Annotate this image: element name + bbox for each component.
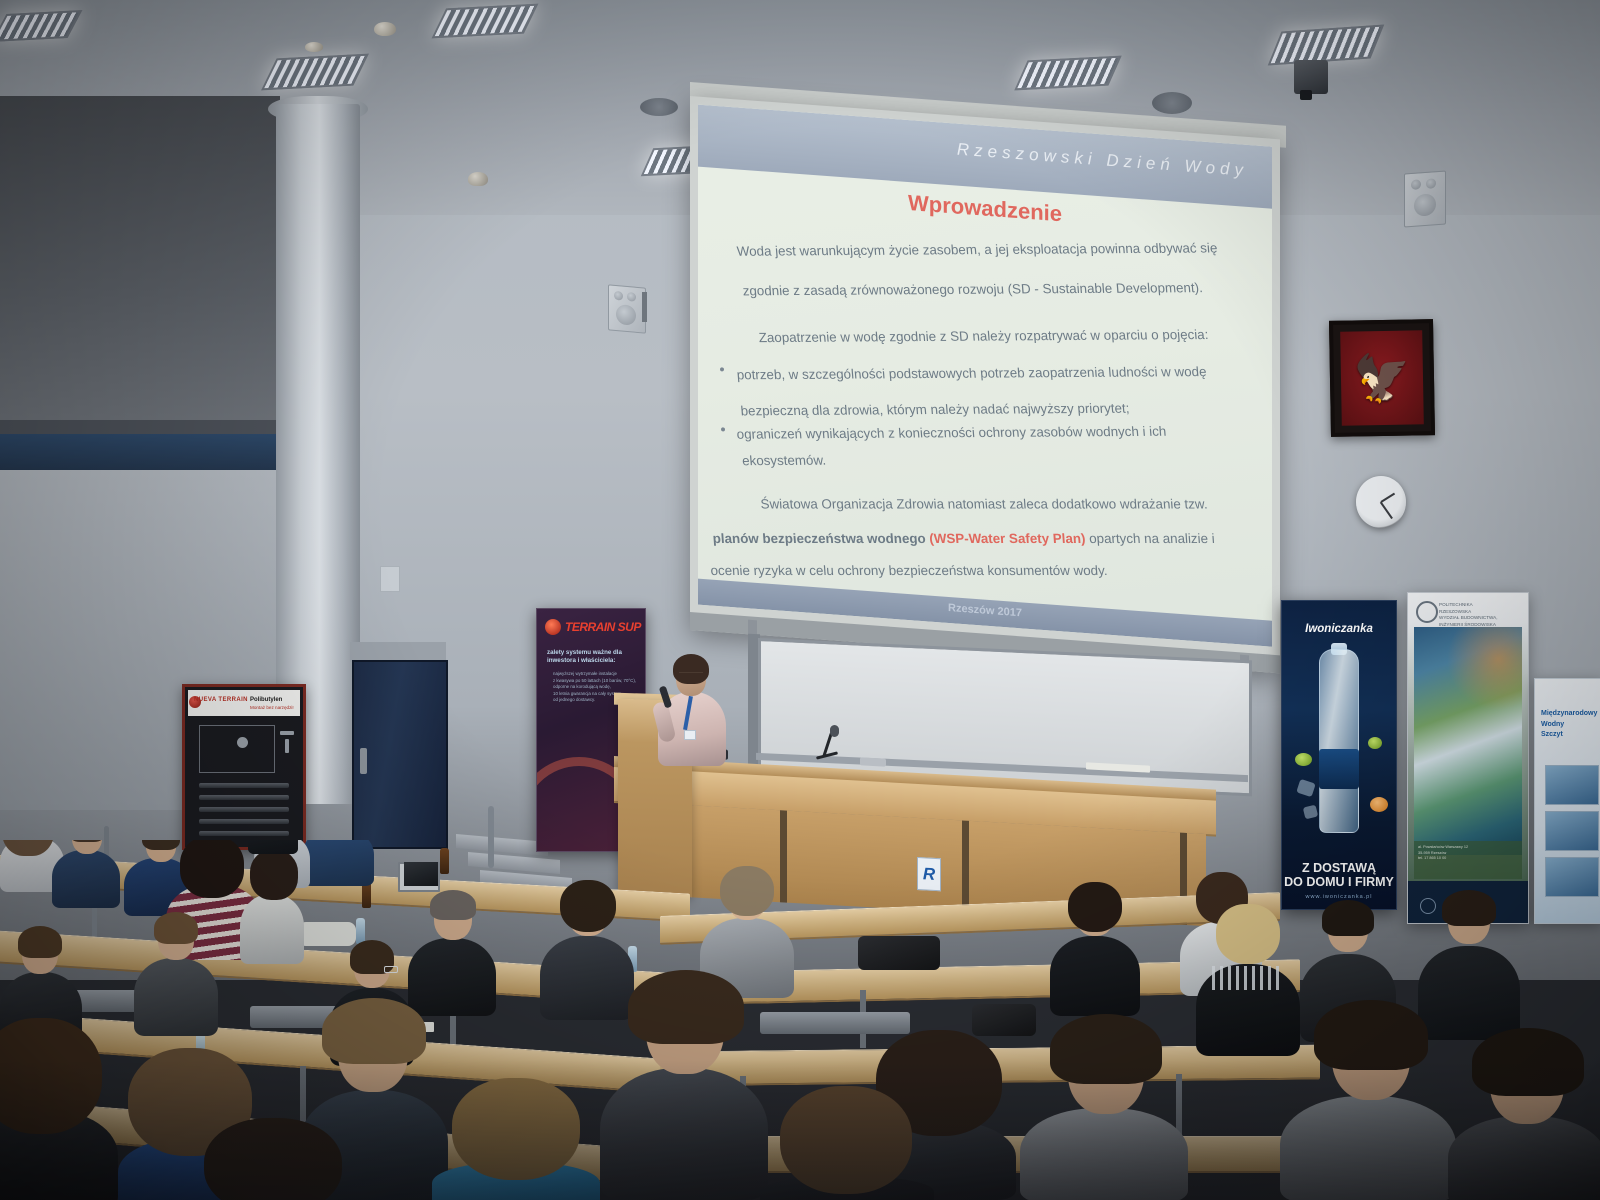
presenter-badge [684, 730, 696, 740]
ceiling-vent [640, 98, 678, 116]
water-summit-line-1: Międzynarodowy [1541, 709, 1599, 720]
terrain-brand-text: TERRAIN SUP [565, 620, 641, 634]
seat-back[interactable] [760, 1012, 910, 1034]
eyeglasses-icon [384, 966, 398, 973]
ceiling-lamp [432, 4, 539, 39]
slide-paragraph-1-line-2: zgodnie z zasadą zrównoważonego rozwoju … [742, 281, 1203, 298]
microphone-head-icon [830, 725, 839, 737]
pipe-sample [199, 795, 289, 800]
board-brand: NUEVA TERRAIN [194, 697, 248, 703]
university-logo-icon [1416, 601, 1438, 623]
pipe-sample [199, 783, 289, 788]
audience-member [1280, 1000, 1458, 1200]
water-summit-line-2: Wodny [1541, 720, 1599, 731]
security-camera [1294, 60, 1328, 94]
lime-slice-decor [1295, 753, 1312, 766]
audience-member [600, 972, 770, 1200]
university-line-2: RZESZOWSKA [1439, 609, 1519, 616]
slide-bullet-marker [721, 427, 725, 431]
water-summit-line-3: Szczyt [1541, 730, 1599, 741]
polish-eagle-emblem: 🦅 [1329, 319, 1435, 437]
audience-member [248, 840, 300, 854]
board-product-sub: Montaż bez narzędzi! [250, 705, 294, 710]
eagle-icon: 🦅 [1353, 355, 1411, 402]
university-line-1: POLITECHNIKA [1439, 602, 1519, 609]
audience-member [52, 840, 122, 908]
ceiling-smoke-detector [374, 22, 396, 36]
terrain-heading-line-1: zalety systemu ważne dla [547, 649, 639, 657]
ceiling-vent [1152, 92, 1192, 114]
auditorium-seating [0, 840, 1600, 1200]
laptop-bag[interactable] [858, 936, 940, 970]
audience-member [1050, 886, 1142, 1016]
desk-microphone [812, 728, 842, 766]
slide-bullet-1-line-1: potrzeb, w szczególności podstawowych po… [736, 365, 1207, 382]
bottle-label [1319, 749, 1359, 789]
pipe-fitting [285, 739, 289, 753]
pipe-sample [199, 807, 289, 812]
wall-speaker-right [1404, 171, 1446, 228]
wall-clock [1356, 476, 1406, 528]
slide-bullet-marker [720, 367, 724, 371]
ice-cube-decor [1296, 779, 1316, 797]
terrain-body-line-1: najwyższej wytrzymałe instalacje [553, 671, 641, 678]
door-handle-icon[interactable] [360, 748, 367, 774]
board-product: Polibutylen [250, 697, 282, 703]
presenter-hair [673, 654, 709, 684]
wall-notice-sign [380, 566, 400, 592]
audience-member [240, 854, 306, 964]
product-display-board: NUEVA TERRAIN Polibutylen Montaż bez nar… [182, 684, 306, 850]
ceiling-dome-camera [468, 172, 488, 186]
slide-wsp-term: (WSP-Water Safety Plan) [929, 531, 1086, 546]
pipe-fitting [280, 731, 294, 735]
audience-member [432, 1082, 602, 1200]
university-photo-collage [1414, 627, 1522, 855]
beaded-collar-decor [1212, 966, 1284, 990]
slide-paragraph-2-line-1: Zaopatrzenie w wodę zgodnie z SD należy … [758, 328, 1209, 345]
terrain-body-line-3: odporne na korodującą wodę, [553, 684, 641, 691]
audience-member [1448, 1030, 1600, 1200]
terrain-heading-line-2: inwestora i właściciela: [547, 657, 639, 665]
slide-bullet-2-line-2: ekosystemów. [742, 454, 827, 468]
wall-blue-band [0, 434, 280, 474]
door-frame-top [350, 642, 446, 662]
pipe-sample [199, 819, 289, 824]
slide-paragraph-1-line-1: Woda jest warunkującym życie zasobem, a … [736, 241, 1218, 258]
audience-member [0, 1028, 120, 1200]
side-door[interactable] [352, 660, 448, 849]
orange-slice-decor [1370, 797, 1388, 812]
audience-member [190, 1130, 358, 1200]
wall-speaker-left [608, 284, 646, 333]
terrain-heading: zalety systemu ważne dla inwestora i wła… [547, 649, 639, 665]
ceiling-sprinkler [305, 42, 323, 52]
audience-member [134, 912, 220, 1036]
valve-fitting [237, 737, 248, 748]
slide-wsp-tail: opartych na analizie i [1085, 531, 1215, 546]
summit-photo [1545, 765, 1599, 805]
speaker-bracket-left [642, 292, 647, 322]
ceiling-lamp [1014, 56, 1122, 91]
slide-header-text: Rzeszowski Dzień Wody [957, 140, 1248, 181]
presenter-glasses-icon [679, 672, 703, 678]
audience-member [1020, 1016, 1190, 1200]
slide-footer-text: Rzeszów 2017 [948, 602, 1022, 619]
slide-bullet-1-line-2: bezpieczną dla zdrowia, którym należy na… [740, 402, 1130, 418]
projection-screen: Rzeszowski Dzień Wody Wprowadzenie Woda … [690, 96, 1280, 673]
slide-wsp-lead: planów bezpieczeństwa wodnego [712, 531, 930, 546]
ceiling-lamp [261, 54, 369, 91]
iwoniczanka-brand-text: Iwoniczanka [1305, 623, 1373, 635]
slide-paragraph-3-line-3: ocenie ryzyka w celu ochrony bezpieczeńs… [710, 564, 1108, 577]
drink-bottle[interactable] [440, 848, 449, 874]
water-summit-title: Międzynarodowy Wodny Szczyt [1541, 709, 1599, 741]
wall-recess [0, 96, 280, 426]
ice-cube-decor [1303, 805, 1319, 820]
university-line-3: WYDZIAŁ BUDOWNICTWA, [1439, 615, 1519, 622]
display-board-header: NUEVA TERRAIN Polibutylen Montaż bez nar… [188, 690, 300, 716]
audience-member [760, 1092, 936, 1200]
terrain-logo-icon [545, 619, 561, 635]
lecture-hall-photo: Rzeszowski Dzień Wody Wprowadzenie Woda … [0, 0, 1600, 1200]
piping-diagram [199, 725, 275, 773]
slide-paragraph-3-line-1: Światowa Organizacja Zdrowia natomiast z… [760, 498, 1208, 511]
projected-slide: Rzeszowski Dzień Wody Wprowadzenie Woda … [698, 105, 1272, 647]
laptop-screen[interactable] [404, 862, 438, 886]
slide-paragraph-3-line-2: planów bezpieczeństwa wodnego (WSP-Water… [712, 532, 1215, 545]
ceiling-lamp [0, 10, 82, 42]
water-bottle-image [1319, 649, 1359, 833]
slide-bullet-2-line-1: ograniczeń wynikających z konieczności o… [736, 425, 1167, 441]
desk-equipment [860, 757, 886, 766]
emblem-red-field: 🦅 [1340, 330, 1424, 425]
lime-slice-decor [1368, 737, 1382, 749]
pipe-sample [199, 831, 289, 836]
presenter [652, 650, 732, 762]
terrain-body-line-2: z kwasywa po 50 lattach (10 barów, 70°C)… [553, 678, 641, 685]
camera-lens-icon [1300, 90, 1312, 100]
